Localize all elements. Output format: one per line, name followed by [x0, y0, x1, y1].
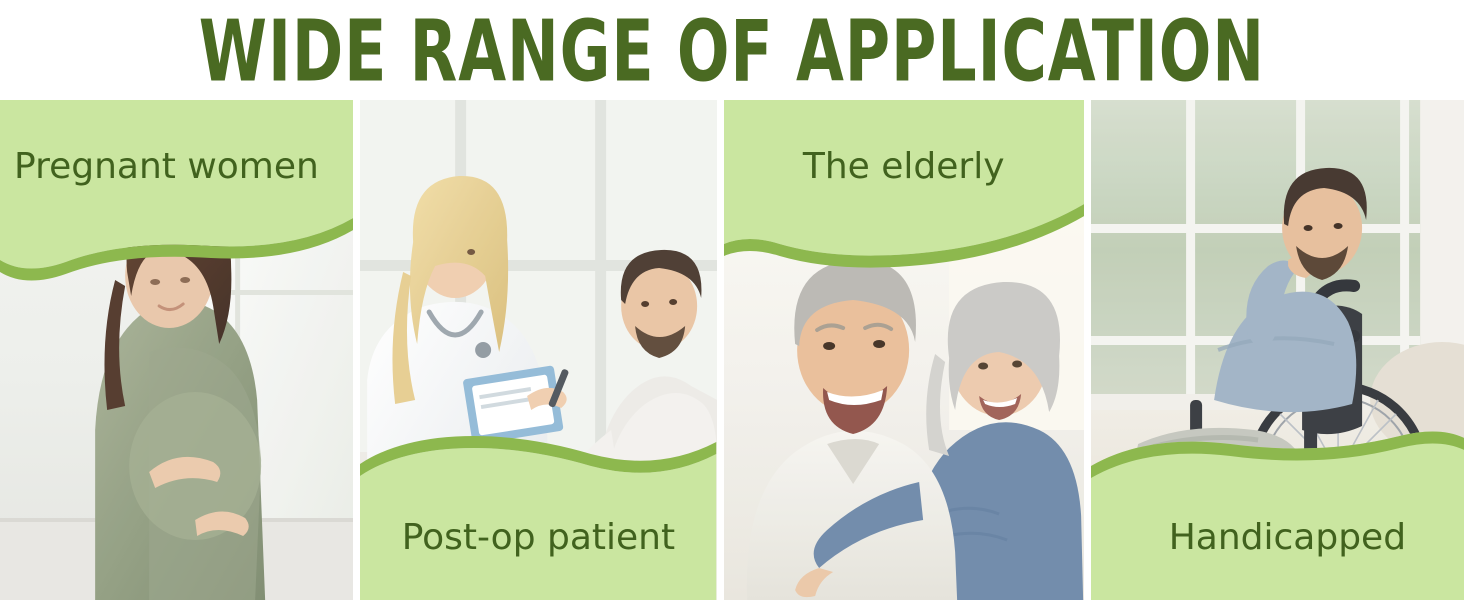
panel-label-pregnant-women: Pregnant women [0, 146, 353, 187]
panel-label-handicapped: Handicapped [1091, 517, 1464, 558]
panel-label-the-elderly: The elderly [724, 146, 1084, 187]
panel-post-op-patient[interactable]: Post-op patient [360, 100, 716, 600]
panel-pregnant-women[interactable]: Pregnant women [0, 100, 353, 600]
panel-label-post-op-patient: Post-op patient [360, 517, 716, 558]
panel-the-elderly[interactable]: The elderly [724, 100, 1084, 600]
page-title: WIDE RANGE OF APPLICATION [199, 6, 1265, 96]
wide-range-of-application-banner: WIDE RANGE OF APPLICATION [0, 0, 1464, 600]
application-panel-group: Pregnant women [0, 100, 1464, 600]
banner-header: WIDE RANGE OF APPLICATION [0, 0, 1464, 100]
panel-handicapped[interactable]: Handicapped [1091, 100, 1464, 600]
